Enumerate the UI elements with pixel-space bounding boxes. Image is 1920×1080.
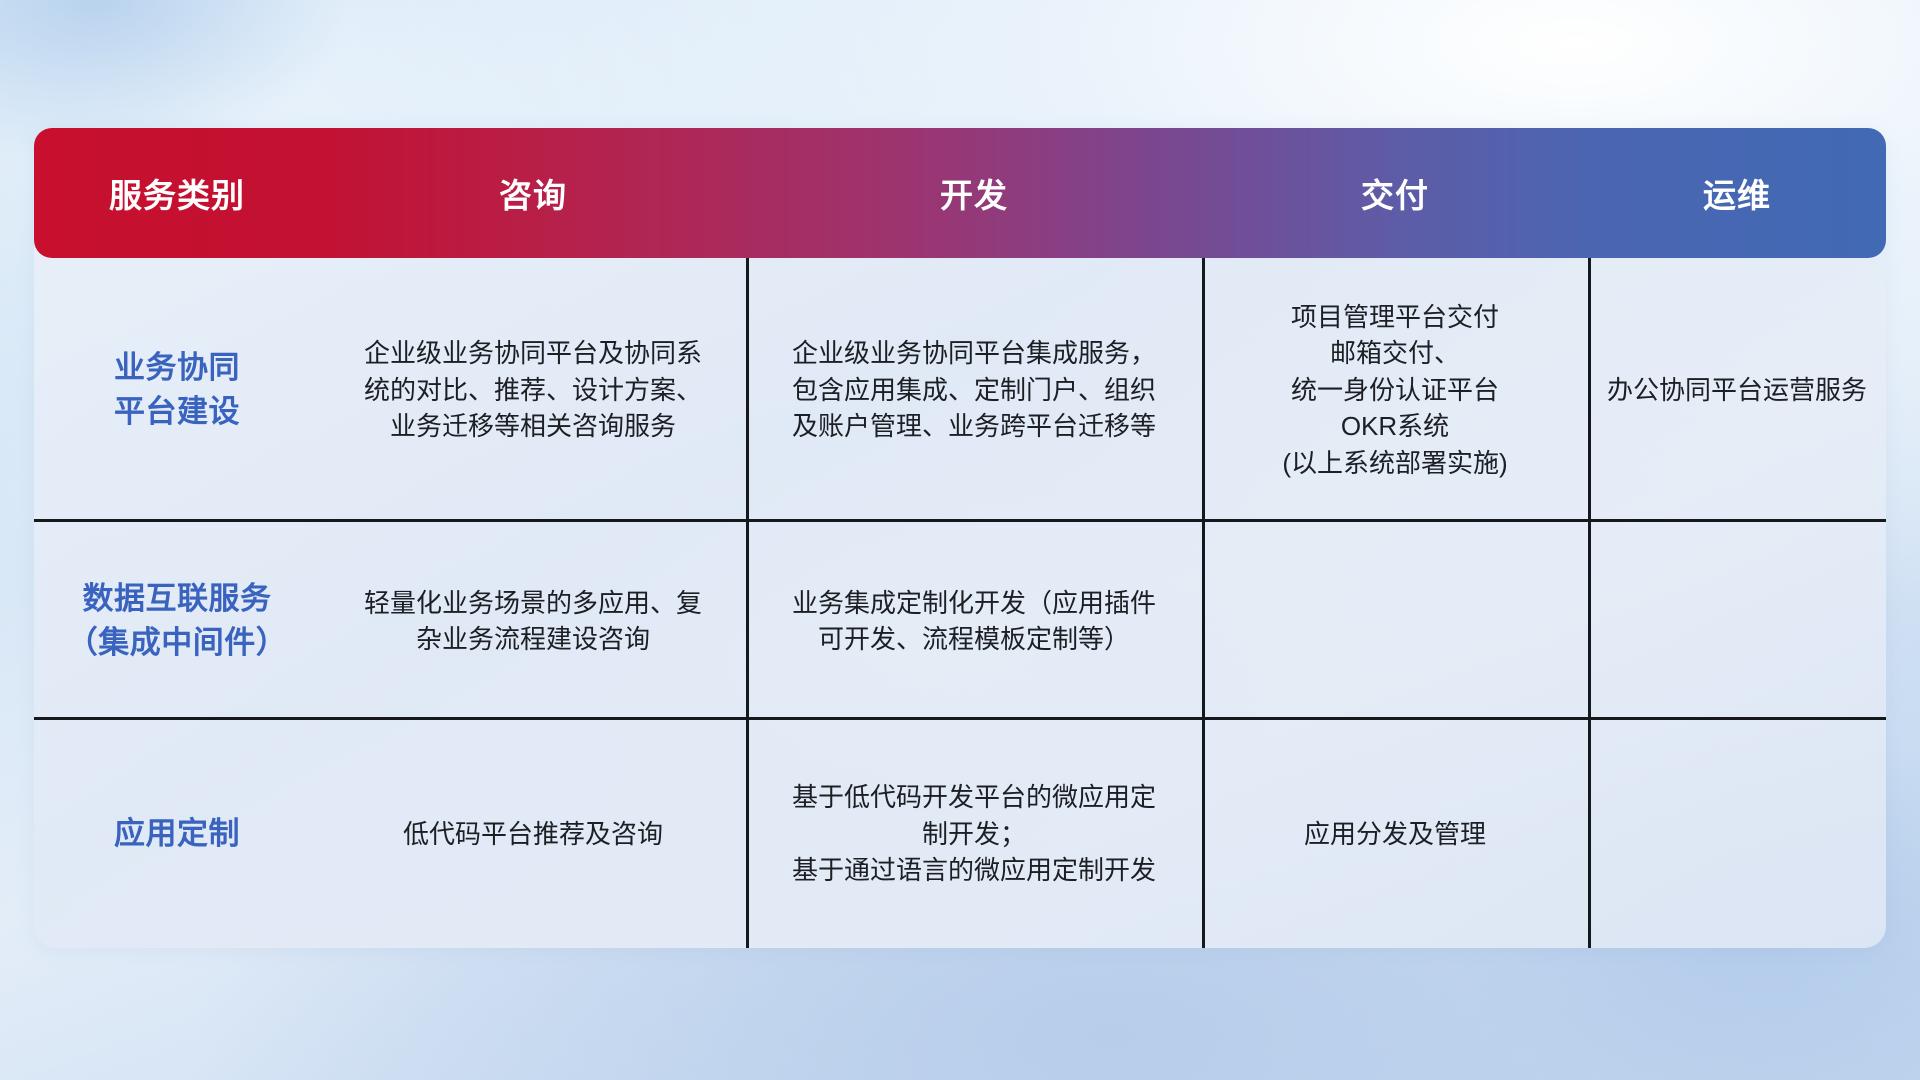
table-row: 业务协同 平台建设 企业级业务协同平台及协同系 统的对比、推荐、设计方案、 业务… xyxy=(34,258,1886,522)
column-header-delivery: 交付 xyxy=(1202,169,1588,217)
cell-text: 业务集成定制化开发（应用插件 可开发、流程模板定制等） xyxy=(792,585,1156,658)
row-label: 应用定制 xyxy=(114,812,240,856)
cell-text: 基于低代码开发平台的微应用定 制开发； 基于通过语言的微应用定制开发 xyxy=(792,779,1156,888)
column-header-development: 开发 xyxy=(746,169,1202,217)
table-header: 服务类别 咨询 开发 交付 运维 xyxy=(34,128,1886,258)
column-divider xyxy=(1202,720,1205,948)
cell-operations xyxy=(1588,720,1886,948)
cell-text: 企业级业务协同平台及协同系 统的对比、推荐、设计方案、 业务迁移等相关咨询服务 xyxy=(364,335,702,444)
column-divider xyxy=(1202,258,1205,522)
column-header-operations: 运维 xyxy=(1588,169,1886,217)
table-row: 数据互联服务 （集成中间件） 轻量化业务场景的多应用、复 杂业务流程建设咨询 业… xyxy=(34,522,1886,720)
cell-delivery: 项目管理平台交付 邮箱交付、 统一身份认证平台 OKR系统 (以上系统部署实施) xyxy=(1202,258,1588,522)
cell-text: 低代码平台推荐及咨询 xyxy=(403,816,663,852)
column-divider xyxy=(746,258,749,522)
cell-text: 项目管理平台交付 邮箱交付、 统一身份认证平台 OKR系统 (以上系统部署实施) xyxy=(1282,299,1507,481)
column-divider xyxy=(1202,522,1205,720)
table-body: 业务协同 平台建设 企业级业务协同平台及协同系 统的对比、推荐、设计方案、 业务… xyxy=(34,258,1886,948)
cell-text: 应用分发及管理 xyxy=(1304,816,1486,852)
row-label-cell: 应用定制 xyxy=(34,720,320,948)
cell-consulting: 轻量化业务场景的多应用、复 杂业务流程建设咨询 xyxy=(320,522,746,720)
row-label: 数据互联服务 （集成中间件） xyxy=(67,577,288,665)
table-row: 应用定制 低代码平台推荐及咨询 基于低代码开发平台的微应用定 制开发； 基于通过… xyxy=(34,720,1886,948)
column-divider xyxy=(746,522,749,720)
cell-development: 业务集成定制化开发（应用插件 可开发、流程模板定制等） xyxy=(746,522,1202,720)
cell-development: 企业级业务协同平台集成服务， 包含应用集成、定制门户、组织 及账户管理、业务跨平… xyxy=(746,258,1202,522)
cell-delivery xyxy=(1202,522,1588,720)
column-divider xyxy=(746,720,749,948)
cell-text: 轻量化业务场景的多应用、复 杂业务流程建设咨询 xyxy=(364,585,702,658)
row-label: 业务协同 平台建设 xyxy=(114,346,240,434)
column-divider xyxy=(1588,522,1591,720)
page-stage: 业务协同 平台建设 企业级业务协同平台及协同系 统的对比、推荐、设计方案、 业务… xyxy=(0,0,1920,1080)
cell-operations: 办公协同平台运营服务 xyxy=(1588,258,1886,522)
column-divider xyxy=(1588,258,1591,522)
row-label-cell: 数据互联服务 （集成中间件） xyxy=(34,522,320,720)
row-label-cell: 业务协同 平台建设 xyxy=(34,258,320,522)
cell-development: 基于低代码开发平台的微应用定 制开发； 基于通过语言的微应用定制开发 xyxy=(746,720,1202,948)
cell-text: 办公协同平台运营服务 xyxy=(1607,372,1867,408)
column-header-category: 服务类别 xyxy=(34,169,320,217)
column-divider xyxy=(1588,720,1591,948)
cell-consulting: 低代码平台推荐及咨询 xyxy=(320,720,746,948)
cell-text: 企业级业务协同平台集成服务， 包含应用集成、定制门户、组织 及账户管理、业务跨平… xyxy=(792,335,1156,444)
column-header-consulting: 咨询 xyxy=(320,169,746,217)
cell-consulting: 企业级业务协同平台及协同系 统的对比、推荐、设计方案、 业务迁移等相关咨询服务 xyxy=(320,258,746,522)
cell-operations xyxy=(1588,522,1886,720)
cell-delivery: 应用分发及管理 xyxy=(1202,720,1588,948)
